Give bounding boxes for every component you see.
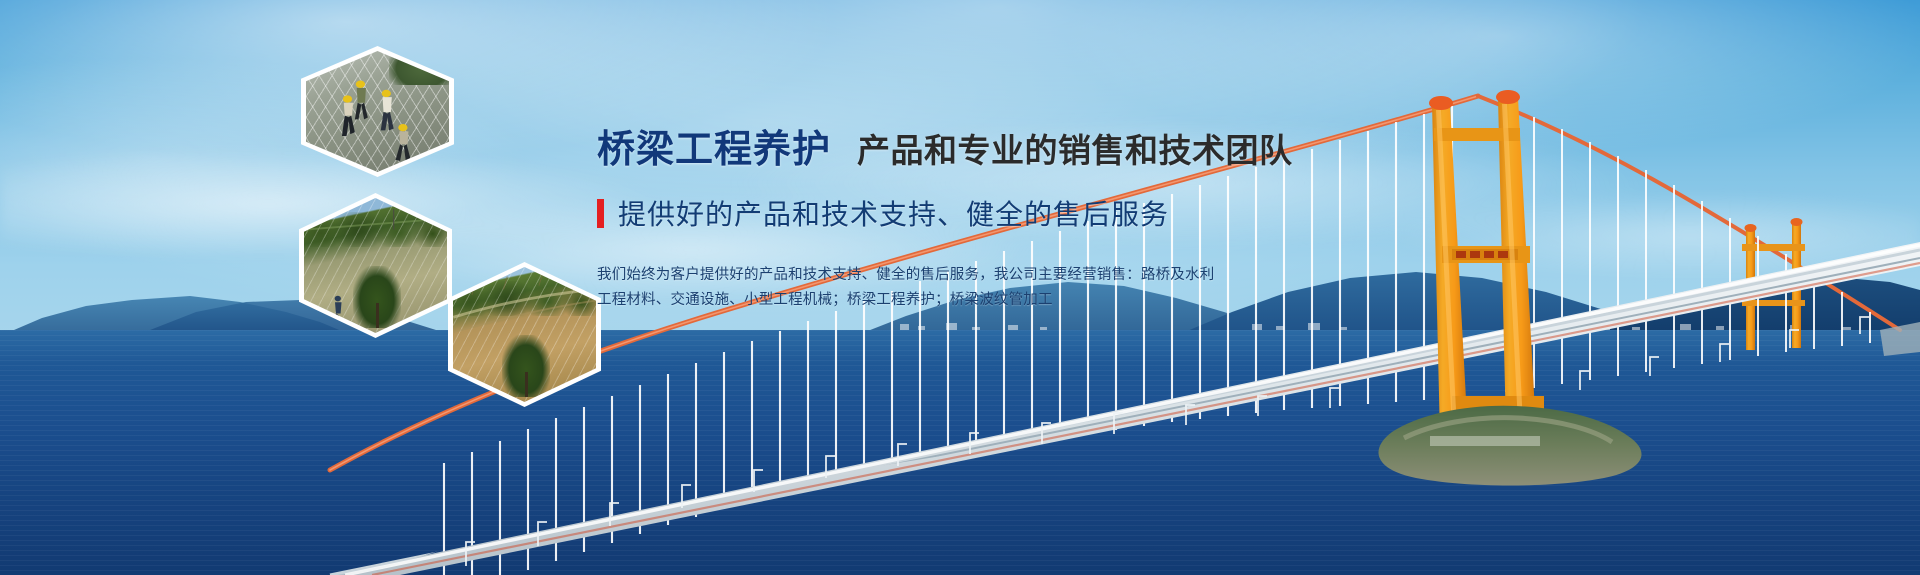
accent-bar xyxy=(597,199,604,228)
worker-figure xyxy=(342,95,355,136)
slope-details xyxy=(453,267,596,402)
body-copy: 我们始终为客户提供好的产品和技术支持、健全的售后服务，我公司主要经营销售：路桥及… xyxy=(597,263,1397,313)
hero-banner: 桥梁工程养护 产品和专业的销售和技术团队 提供好的产品和技术支持、健全的售后服务… xyxy=(0,0,1920,575)
worker-figure xyxy=(381,90,394,131)
worker-figure xyxy=(355,81,368,120)
body-line-1: 我们始终为客户提供好的产品和技术支持、健全的售后服务，我公司主要经营销售：路桥及… xyxy=(597,263,1397,288)
subheading-text: 提供好的产品和技术支持、健全的售后服务 xyxy=(618,193,1169,233)
photo-roadside-slope xyxy=(453,267,596,402)
headline: 桥梁工程养护 产品和专业的销售和技术团队 xyxy=(597,118,1397,173)
headline-primary: 桥梁工程养护 xyxy=(597,118,831,173)
body-line-2: 工程材料、交通设施、小型工程机械；桥梁工程养护；桥梁波纹管加工 xyxy=(597,288,1397,313)
photo-rockface-mesh xyxy=(306,51,449,172)
hero-copy: 桥梁工程养护 产品和专业的销售和技术团队 提供好的产品和技术支持、健全的售后服务… xyxy=(597,118,1397,313)
sea-water xyxy=(0,330,1920,575)
subheading-row: 提供好的产品和技术支持、健全的售后服务 xyxy=(597,193,1397,233)
worker-figure xyxy=(396,124,411,161)
workers-group xyxy=(306,51,449,172)
photo-slope-protection xyxy=(304,198,447,333)
slope-details xyxy=(304,198,447,333)
headline-secondary: 产品和专业的销售和技术团队 xyxy=(857,124,1293,172)
